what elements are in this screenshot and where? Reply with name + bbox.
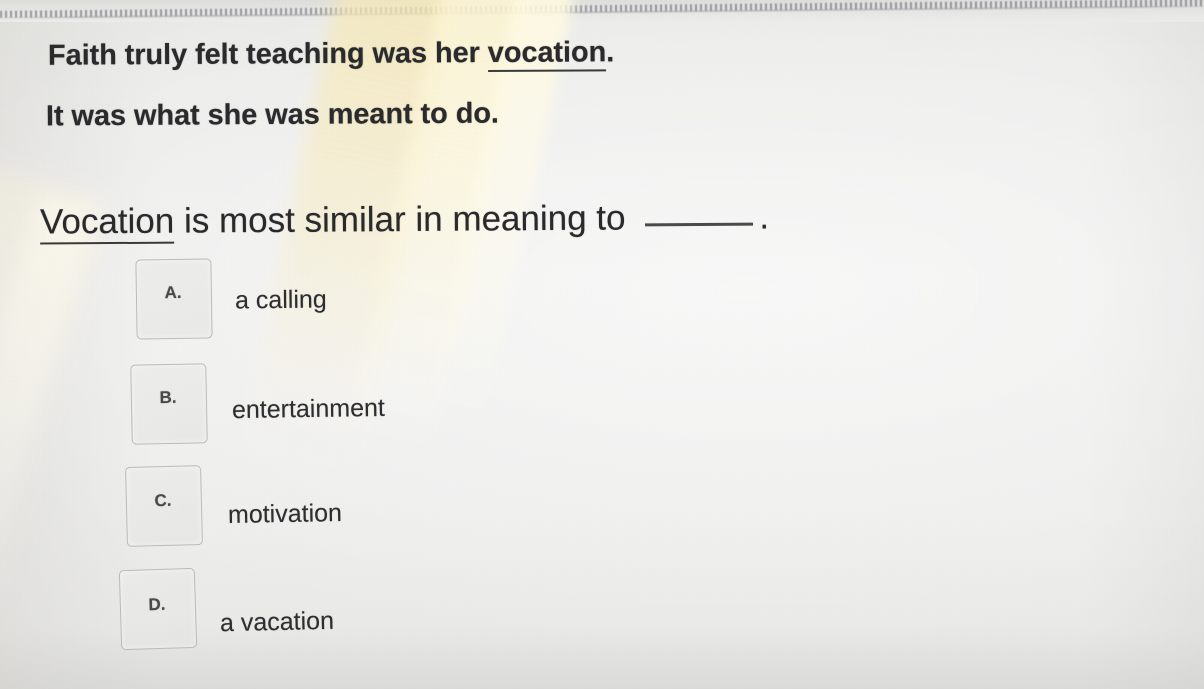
passage-line-1-before: Faith truly felt teaching was her xyxy=(48,37,488,72)
option-b-text[interactable]: entertainment xyxy=(232,394,385,425)
option-c-letter: C. xyxy=(126,490,200,512)
option-d-letter: D. xyxy=(120,594,195,616)
option-a-text[interactable]: a calling xyxy=(235,286,327,316)
photographed-worksheet-page: Faith truly felt teaching was her vocati… xyxy=(0,0,1204,689)
option-a-letter: A. xyxy=(136,282,210,303)
passage-line-1-after: . xyxy=(606,36,614,68)
answer-blank xyxy=(645,223,753,227)
passage-line-1: Faith truly felt teaching was her vocati… xyxy=(48,36,614,72)
question-text-after-blank: . xyxy=(759,197,769,236)
question-text-before-blank: is most similar in meaning to xyxy=(174,198,635,240)
passage-vocation-underlined: vocation xyxy=(488,36,607,72)
option-b-letter: B. xyxy=(131,387,205,408)
option-c-text[interactable]: motivation xyxy=(228,499,342,530)
passage-line-2: It was what she was meant to do. xyxy=(46,98,499,134)
question-content: Faith truly felt teaching was her vocati… xyxy=(0,0,1204,689)
option-d-text[interactable]: a vacation xyxy=(220,607,335,638)
question-stem: Vocation is most similar in meaning to . xyxy=(40,197,769,242)
question-underlined-word: Vocation xyxy=(40,202,175,245)
